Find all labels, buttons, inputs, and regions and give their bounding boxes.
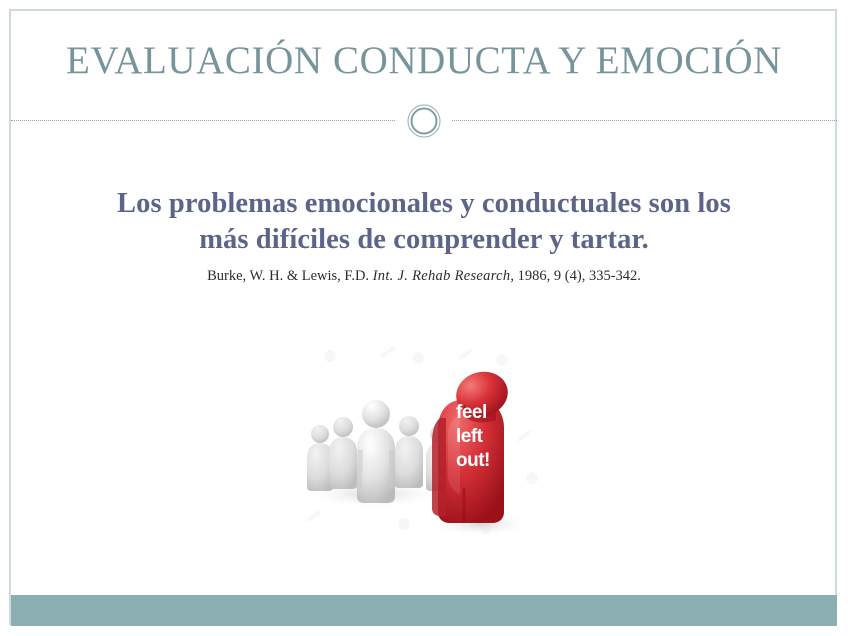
feel-left-out-illustration: feel left out! [288, 338, 552, 543]
quote-line-2: más difíciles de comprender y tartar. [60, 222, 788, 258]
page-title: EVALUACIÓN CONDUCTA Y EMOCIÓN [66, 41, 782, 80]
citation-authors: Burke, W. H. & Lewis, F.D. [207, 268, 373, 284]
footer-accent-bar [11, 595, 837, 626]
overlay-line-1: feel [456, 402, 487, 423]
circle-inner-icon [411, 108, 438, 135]
overlay-line-2: left [456, 426, 484, 447]
overlay-line-3: out! [456, 450, 490, 471]
title-divider [11, 104, 837, 138]
slide: EVALUACIÓN CONDUCTA Y EMOCIÓN Los proble… [0, 0, 848, 636]
quote-block: Los problemas emocionales y conductuales… [60, 186, 788, 285]
slide-image: feel left out! [288, 338, 552, 543]
quote-line-1: Los problemas emocionales y conductuales… [60, 186, 788, 222]
citation-journal: Int. J. Rehab Research [373, 268, 511, 284]
citation-details: , 1986, 9 (4), 335-342. [510, 268, 641, 284]
divider-ring-ornament [396, 104, 452, 138]
slide-title-area: EVALUACIÓN CONDUCTA Y EMOCIÓN [11, 30, 837, 90]
quote-text: Los problemas emocionales y conductuales… [60, 186, 788, 258]
citation: Burke, W. H. & Lewis, F.D. Int. J. Rehab… [60, 267, 788, 285]
